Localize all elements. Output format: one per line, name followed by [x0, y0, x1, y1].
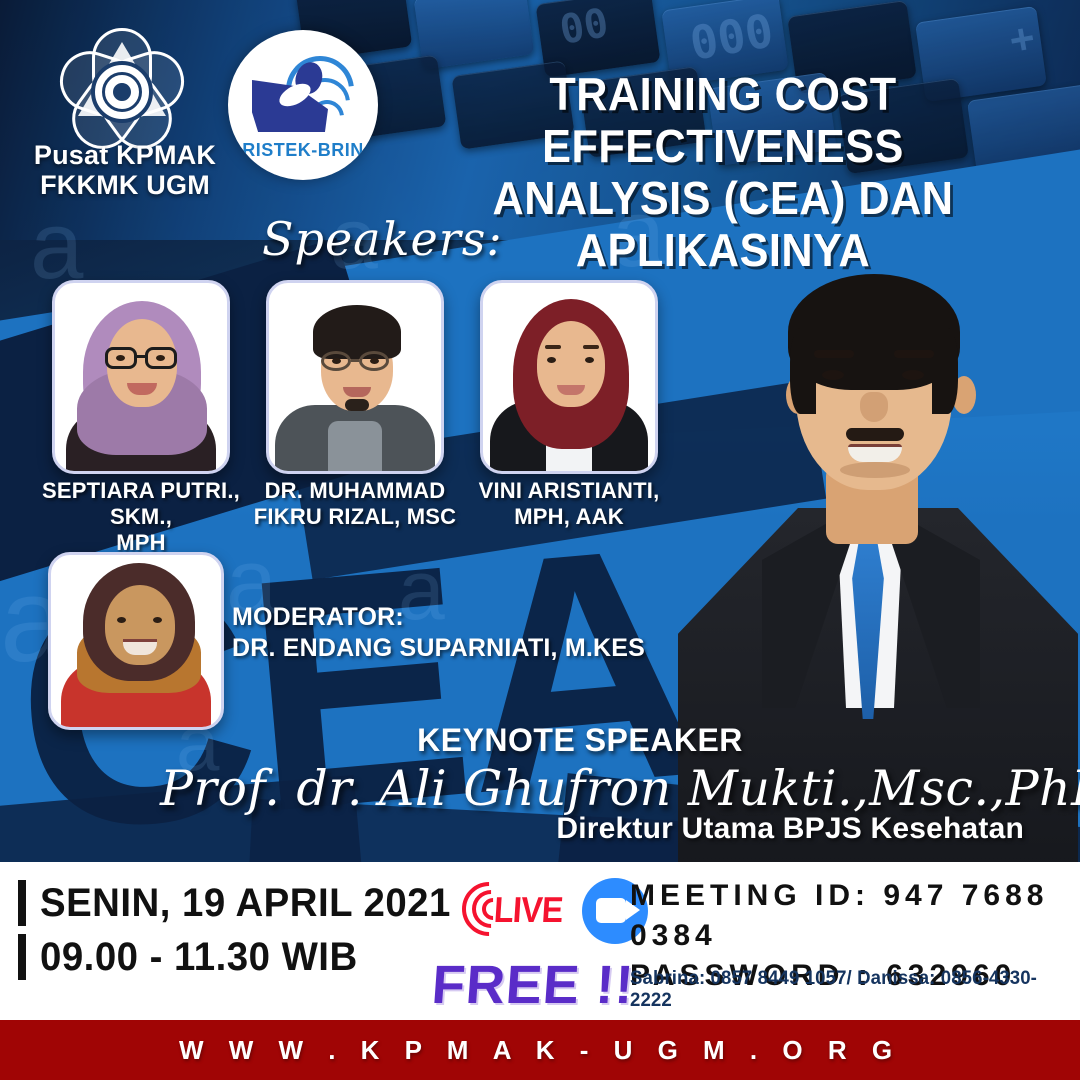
mustache [846, 428, 904, 441]
speaker-photo-image-1 [55, 283, 227, 471]
meeting-id: MEETING ID: 947 7688 0384 [630, 876, 1080, 956]
speaker-photo-1 [52, 280, 230, 474]
mouth [848, 444, 902, 462]
speaker-name-1: SEPTIARA PUTRI., SKM., MPH [36, 478, 246, 556]
eyebrow [814, 350, 854, 358]
speakers-heading: Speakers: [262, 212, 503, 266]
moderator-info: MODERATOR: DR. ENDANG SUPARNIATI, M.KES [232, 602, 645, 664]
schedule-time-row: 09.00 - 11.30 WIB [18, 934, 468, 980]
speaker-name-2-line-2: FIKRU RIZAL, MSC [250, 504, 460, 530]
moderator-label: MODERATOR: [232, 602, 645, 633]
eye [822, 370, 844, 380]
collar [328, 421, 382, 471]
bar-marker-icon [18, 880, 26, 926]
footer-bar: W W W . K P M A K - U G M . O R G [0, 1020, 1080, 1080]
moderator-photo-image [51, 555, 221, 727]
eye [156, 355, 165, 361]
poster-root: 00 000 + CEA a a a a a a a Pusat KPMAK F… [0, 0, 1080, 1080]
info-bar: SENIN, 19 APRIL 2021 09.00 - 11.30 WIB L… [0, 862, 1080, 1020]
chin [840, 462, 910, 478]
speaker-photo-image-2 [269, 283, 441, 471]
schedule-block: SENIN, 19 APRIL 2021 09.00 - 11.30 WIB [18, 880, 468, 988]
schedule-time: 09.00 - 11.30 WIB [40, 935, 358, 980]
live-label: LIVE [493, 889, 564, 931]
eye [117, 617, 126, 623]
hair-side [790, 328, 816, 414]
eye [547, 357, 556, 363]
ugm-caption-line-2: FKKMK UGM [10, 170, 240, 200]
glasses-bridge [137, 355, 145, 358]
speaker-name-2: DR. MUHAMMAD FIKRU RIZAL, MSC [250, 478, 460, 530]
ristek-glyph-icon [250, 56, 356, 136]
ugm-caption: Pusat KPMAK FKKMK UGM [10, 140, 240, 200]
glasses-bridge [351, 359, 359, 362]
eyebrow [545, 345, 561, 349]
speaker-name-2-line-1: DR. MUHAMMAD [250, 478, 460, 504]
schedule-date: SENIN, 19 APRIL 2021 [40, 881, 451, 926]
speaker-name-1-line-1: SEPTIARA PUTRI., SKM., [36, 478, 246, 530]
bar-marker-icon [18, 934, 26, 980]
speaker-photo-3 [480, 280, 658, 474]
eyebrow [583, 345, 599, 349]
nose [860, 392, 888, 422]
speaker-photo-image-3 [483, 283, 655, 471]
free-label: FREE !! [430, 954, 636, 1016]
beard [345, 399, 369, 411]
keynote-role: Direktur Utama BPJS Kesehatan [300, 812, 1060, 846]
eye [585, 357, 594, 363]
speaker-photo-2 [266, 280, 444, 474]
moderator-name: DR. ENDANG SUPARNIATI, M.KES [232, 633, 645, 664]
ugm-seal-center [113, 83, 131, 101]
camera-body-icon [596, 898, 626, 923]
moderator-photo [48, 552, 224, 730]
keyboard-digit: 00 [556, 0, 611, 54]
mouth [123, 639, 157, 655]
eye [902, 370, 924, 380]
speaker-name-3-line-1: VINI ARISTIANTI, [464, 478, 674, 504]
eye [332, 358, 341, 364]
title-line-1: TRAINING COST EFFECTIVENESS [399, 68, 1048, 172]
hair [313, 305, 401, 359]
contact-numbers: Sabrina: 0857 8449 1057/ Danissa: 0856-4… [630, 968, 1071, 1012]
speaker-name-3: VINI ARISTIANTI, MPH, AAK [464, 478, 674, 530]
keynote-label: KEYNOTE SPEAKER [300, 722, 860, 759]
eye [153, 617, 162, 623]
live-badge: LIVE [452, 876, 622, 942]
eye [116, 355, 125, 361]
hair-side [932, 328, 958, 414]
keynote-name: Prof. dr. Ali Ghufron Mukti.,Msc.,PhD [160, 760, 1060, 817]
ugm-caption-line-1: Pusat KPMAK [10, 140, 240, 170]
eye [370, 358, 379, 364]
ristek-brin-label: RISTEK-BRIN [228, 140, 378, 161]
website-url[interactable]: W W W . K P M A K - U G M . O R G [0, 1020, 1080, 1080]
eyebrow [894, 350, 934, 358]
ristek-brin-logo: RISTEK-BRIN [228, 30, 378, 180]
schedule-date-row: SENIN, 19 APRIL 2021 [18, 880, 468, 926]
speaker-name-3-line-2: MPH, AAK [464, 504, 674, 530]
